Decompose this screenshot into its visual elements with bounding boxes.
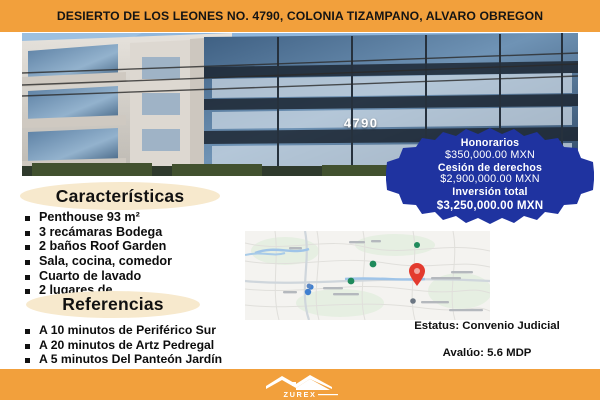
list-item: Cuarto de lavado bbox=[22, 269, 252, 283]
map-illustration bbox=[245, 231, 490, 320]
list-item: A 20 minutos de Artz Pedregal bbox=[22, 338, 352, 353]
status-badge: Estatus: Convenio Judicial bbox=[378, 320, 596, 332]
zurex-logo: ZUREX bbox=[252, 369, 348, 400]
price-badge: Honorarios $350,000.00 MXN Cesión de der… bbox=[386, 128, 594, 224]
features-heading: Características bbox=[56, 186, 185, 207]
fee-value: $350,000.00 MXN bbox=[445, 150, 535, 162]
list-item: 3 recámaras Bodega bbox=[22, 225, 252, 239]
list-item: Sala, cocina, comedor bbox=[22, 254, 252, 268]
header-banner: DESIERTO DE LOS LEONES NO. 4790, COLONIA… bbox=[0, 0, 600, 32]
location-map[interactable] bbox=[245, 231, 490, 320]
total-value: $3,250,000.00 MXN bbox=[437, 200, 544, 213]
references-heading-pill: Referencias bbox=[26, 291, 200, 318]
features-heading-pill: Características bbox=[20, 182, 220, 210]
price-badge-text: Honorarios $350,000.00 MXN Cesión de der… bbox=[386, 128, 594, 224]
list-item: 2 baños Roof Garden bbox=[22, 239, 252, 253]
list-item: A 10 minutos de Periférico Sur bbox=[22, 323, 352, 338]
house-logo-icon: ZUREX bbox=[252, 371, 348, 399]
appraisal-value: Avalúo: 5.6 MDP bbox=[378, 347, 596, 359]
property-flyer: DESIERTO DE LOS LEONES NO. 4790, COLONIA… bbox=[0, 0, 600, 400]
rights-value: $2,900,000.00 MXN bbox=[440, 174, 539, 186]
list-item: Penthouse 93 m² bbox=[22, 210, 252, 224]
logo-wordmark: ZUREX bbox=[283, 390, 316, 399]
references-heading: Referencias bbox=[62, 294, 163, 315]
total-label: Inversión total bbox=[452, 187, 527, 198]
references-list: A 10 minutos de Periférico Sur A 20 minu… bbox=[22, 323, 352, 367]
address-number-label: 4790 bbox=[344, 116, 379, 131]
page-title: DESIERTO DE LOS LEONES NO. 4790, COLONIA… bbox=[43, 9, 557, 23]
list-item: A 5 minutos Del Panteón Jardín bbox=[22, 352, 352, 367]
